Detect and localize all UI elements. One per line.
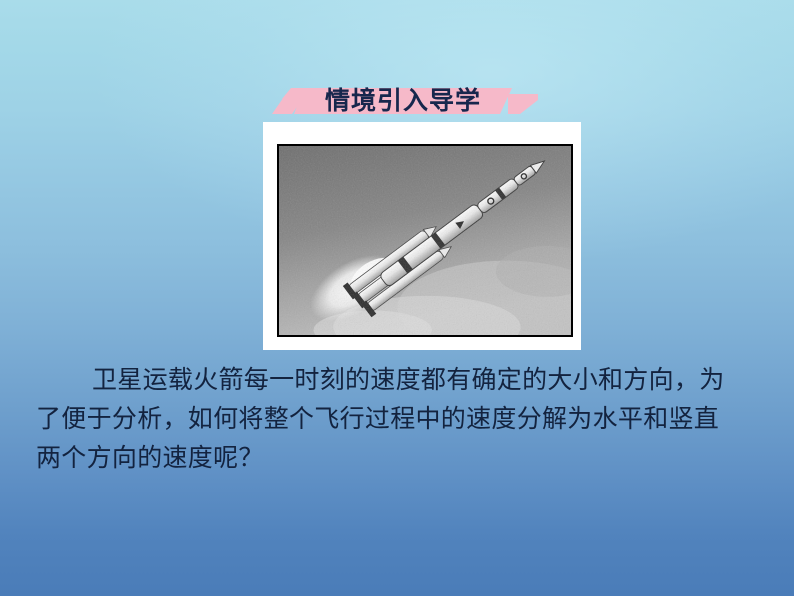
rocket-launch-illustration [279, 146, 571, 335]
slide-canvas: 情境引入导学 [0, 0, 794, 596]
rocket-launch-photo [277, 144, 573, 337]
body-line-2: 了便于分析，如何将整个飞行过程中的速度分解为水平和竖直 [36, 399, 762, 438]
body-line-1: 卫星运载火箭每一时刻的速度都有确定的大小和方向，为 [36, 360, 762, 399]
section-title-banner: 情境引入导学 [272, 82, 534, 116]
body-paragraph: 卫星运载火箭每一时刻的速度都有确定的大小和方向，为 了便于分析，如何将整个飞行过… [36, 360, 762, 477]
page-title: 情境引入导学 [272, 82, 534, 116]
photo-white-mat [263, 122, 581, 350]
body-line-3: 两个方向的速度呢？ [36, 438, 762, 477]
